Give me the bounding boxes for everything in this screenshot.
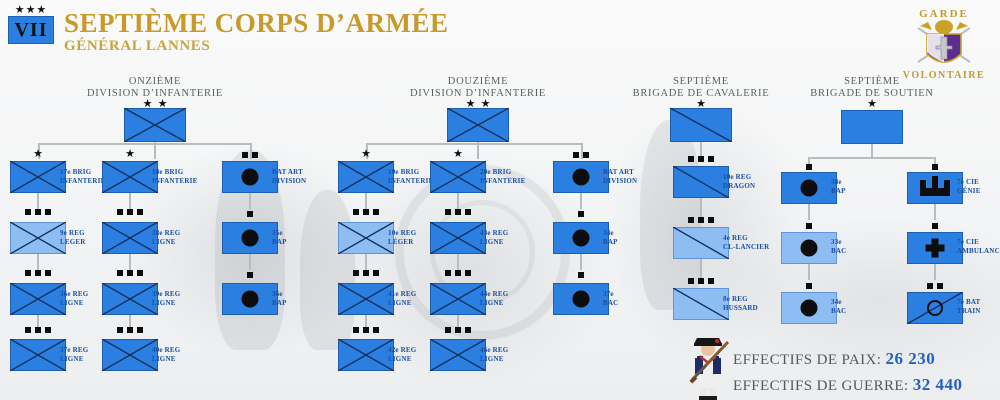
connector [249,193,251,209]
echelon-10-reg-dragon [675,155,727,163]
caption-line2: INFANTERIE [480,177,525,186]
echelon-39-reg-ligne [104,269,156,277]
echelon-7-cie-genie [909,163,961,171]
unit-div-11-hq[interactable] [124,108,186,142]
caption-line1: 20e BRIG [480,168,525,177]
connector [129,193,131,209]
caption-line1: 38e [831,178,846,187]
caption-line2: LIGNE [480,238,508,247]
caption-line2: BAC [831,247,846,256]
unit-19-brig-infanterie[interactable] [338,161,394,193]
group-title-div-12: DOUZIÈME DIVISION D’INFANTERIE [378,76,578,100]
chart-header: ★★★ VII SEPTIÈME CORPS D’ARMÉE GÉNÉRAL L… [0,0,1000,62]
unit-bat-art-division-11[interactable] [222,161,278,193]
caption-8-reg-hussard: 8e REG HUSSARD [723,295,758,313]
effectifs-guerre-label: EFFECTIFS DE GUERRE: [733,378,909,394]
caption-line2: INFANTERIE [388,177,433,186]
caption-44-reg-ligne: 44e REG LIGNE [480,290,508,308]
echelon-43-reg-ligne [432,208,484,216]
caption-line1: BAT ART [603,168,637,177]
caption-line2: LIGNE [60,355,88,364]
caption-line2: LEGER [60,238,86,247]
caption-line1: 9e REG [60,229,86,238]
caption-line2: INFANTERIE [152,177,197,186]
unit-34-bap[interactable] [553,222,609,254]
caption-line1: 42e REG [388,346,416,355]
caption-line2: LIGNE [152,355,180,364]
echelon-div-11: ★★ [125,100,185,108]
echelon-20-brig: ★ [432,150,484,158]
caption-34-bac: 34e BAC [831,298,846,316]
caption-7-cie-ambulance: 7e CIE AMBULANCE [957,238,1000,256]
caption-38-bap: 38e BAP [831,178,846,196]
unit-18-brig-infanterie[interactable] [102,161,158,193]
connector [580,254,582,270]
caption-41-reg-ligne: 41e REG LIGNE [388,290,416,308]
echelon-10-reg-leger [340,208,392,216]
caption-42-reg-ligne: 42e REG LIGNE [388,346,416,364]
caption-line2: LIGNE [152,299,180,308]
caption-bat-art-division-11: BAT ART DIVISION [272,168,306,186]
unit-37-bac[interactable] [553,283,609,315]
caption-line2: DRAGON [723,182,755,191]
echelon-38-bap [783,163,835,171]
echelon-38-reg-ligne [104,208,156,216]
group-title-line1: SEPTIÈME [782,76,962,88]
caption-10-reg-leger: 10e REG LÉGER [388,229,416,247]
unit-34-bac[interactable] [781,292,837,324]
group-title-line2: DIVISION D’INFANTERIE [378,88,578,100]
connector [808,204,810,220]
caption-line2: DIVISION [603,177,637,186]
caption-line1: 17e BRIG [60,168,105,177]
connector [38,143,252,145]
caption-line1: 44e REG [480,290,508,299]
unit-42-reg-ligne[interactable] [338,339,394,371]
caption-line2: LÉGER [388,238,416,247]
caption-line2: DIVISION [272,177,306,186]
echelon-4-reg-cl-lancier [675,216,727,224]
caption-35-bap: 35e BAP [272,229,287,247]
connector [808,157,935,159]
unit-7-cie-genie[interactable] [907,172,963,204]
effectifs-guerre: EFFECTIFS DE GUERRE: 32 440 [733,375,962,395]
caption-line1: 10e REG [723,173,755,182]
caption-line1: 43e REG [480,229,508,238]
caption-line2: GÉNIE [957,187,981,196]
unit-div-12-hq[interactable] [447,108,509,142]
caption-line1: BAT ART [272,168,306,177]
group-title-bde-soutien: SEPTIÈME BRIGADE DE SOUTIEN [782,76,962,100]
caption-line1: 38e REG [152,229,180,238]
echelon-17-brig: ★ [12,150,64,158]
caption-line2: BAC [603,299,618,308]
group-title-line1: DOUZIÈME [378,76,578,88]
connector [934,264,936,280]
caption-4-reg-cl-lancier: 4e REG CL-LANCIER [723,234,769,252]
unit-39-reg-ligne[interactable] [102,283,158,315]
echelon-36-reg-ligne [12,269,64,277]
caption-line2: AMBULANCE [957,247,1000,256]
echelon-8-reg-hussard [675,277,727,285]
caption-18-brig-infanterie: 18e BRIG INFANTERIE [152,168,197,186]
caption-line2: BAP [272,299,287,308]
unit-36-reg-ligne[interactable] [10,283,66,315]
caption-line1: 46e REG [480,346,508,355]
unit-20-brig-infanterie[interactable] [430,161,486,193]
caption-40-reg-ligne: 40e REG LIGNE [152,346,180,364]
echelon-bat-art-div-11 [224,151,276,159]
artillery-icon [573,169,590,186]
caption-line1: 7e BAT [957,298,981,307]
echelon-bde-cav: ★ [675,100,727,108]
unit-7-bat-train[interactable] [907,292,963,324]
unit-17-brig-infanterie[interactable] [10,161,66,193]
unit-38-reg-ligne[interactable] [102,222,158,254]
caption-36-reg-ligne: 36e REG LIGNE [60,290,88,308]
echelon-19-brig: ★ [340,150,392,158]
unit-bat-art-division-12[interactable] [553,161,609,193]
caption-line1: 18e BRIG [152,168,197,177]
medical-cross-icon [926,239,945,258]
artillery-icon [801,180,818,197]
artillery-icon [573,291,590,308]
connector [457,254,459,270]
connector [871,144,873,158]
connector [808,264,810,280]
caption-20-brig-infanterie: 20e BRIG INFANTERIE [480,168,525,186]
caption-line2: HUSSARD [723,304,758,313]
caption-19-brig-infanterie: 19e BRIG INFANTERIE [388,168,433,186]
echelon-42-reg-ligne [340,326,392,334]
connector [580,193,582,209]
connector [129,254,131,270]
caption-line1: 7e CIE [957,238,1000,247]
caption-line2: TRAIN [957,307,981,316]
caption-17-brig-infanterie: 17e BRIG INFANTERIE [60,168,105,186]
unit-9-reg-leger[interactable] [10,222,66,254]
connector [37,193,39,209]
echelon-35-bap [224,210,276,218]
unit-7-cie-ambulance[interactable] [907,232,963,264]
caption-10-reg-dragon: 10e REG DRAGON [723,173,755,191]
caption-line1: 34e [603,229,618,238]
group-title-line2: DIVISION D’INFANTERIE [55,88,255,100]
caption-line2: BAP [831,187,846,196]
artillery-icon [801,300,818,317]
corps-numeral-badge: VII [8,16,54,44]
echelon-34-bac [783,282,835,290]
caption-line2: LIGNE [480,299,508,308]
unit-41-reg-ligne[interactable] [338,283,394,315]
echelon-9-reg-leger [12,208,64,216]
unit-8-reg-hussard[interactable] [673,288,729,320]
echelon-7-bat-train [909,282,961,290]
unit-bde-cav-hq[interactable] [670,108,732,142]
caption-line2: LIGNE [152,238,180,247]
corps-stars: ★★★ [8,4,54,16]
artillery-icon [573,230,590,247]
caption-34-bap: 34e BAP [603,229,618,247]
echelon-18-brig: ★ [104,150,156,158]
unit-40-reg-ligne[interactable] [102,339,158,371]
caption-line2: LIGNE [480,355,508,364]
caption-line2: LIGNE [60,299,88,308]
effectifs-paix-value: 26 230 [886,349,936,368]
connector [365,254,367,270]
caption-line2: CL-LANCIER [723,243,769,252]
caption-line2: BAP [603,238,618,247]
echelon-bat-art-div-12 [555,151,607,159]
caption-line1: 41e REG [388,290,416,299]
caption-39-reg-ligne: 39e REG LIGNE [152,290,180,308]
caption-line2: LIGNE [388,299,416,308]
caption-7-bat-train: 7e BAT TRAIN [957,298,981,316]
group-title-line1: ONZIÈME [55,76,255,88]
caption-line1: 8e REG [723,295,758,304]
effectifs-paix-label: EFFECTIFS DE PAIX: [733,352,881,368]
caption-38-reg-ligne: 38e REG LIGNE [152,229,180,247]
echelon-40-reg-ligne [104,326,156,334]
echelon-36-bap [224,271,276,279]
caption-line1: 4e REG [723,234,769,243]
caption-line2: LIGNE [388,355,416,364]
engineer-castle-icon [920,180,950,196]
caption-line1: 40e REG [152,346,180,355]
caption-line1: 33e [831,238,846,247]
group-title-div-11: ONZIÈME DIVISION D’INFANTERIE [55,76,255,100]
unit-46-reg-ligne[interactable] [430,339,486,371]
artillery-icon [242,291,259,308]
caption-line1: 19e BRIG [388,168,433,177]
orbat-chart: ★★★ VII SEPTIÈME CORPS D’ARMÉE GÉNÉRAL L… [0,0,1000,400]
commander-name: GÉNÉRAL LANNES [64,38,210,55]
caption-33-bac: 33e BAC [831,238,846,256]
caption-line1: 36e [272,290,287,299]
unit-33-bac[interactable] [781,232,837,264]
napoleonic-soldier-illustration [686,334,730,400]
unit-bde-soutien-hq[interactable] [841,110,903,144]
caption-line1: 7e CIE [957,178,981,187]
echelon-44-reg-ligne [432,269,484,277]
caption-37-reg-ligne: 37e REG LIGNE [60,346,88,364]
echelon-37-reg-ligne [12,326,64,334]
echelon-div-12: ★★ [448,100,508,108]
caption-line1: 35e [272,229,287,238]
caption-line1: 37e [603,290,618,299]
artillery-icon [801,240,818,257]
group-title-bde-cav: SEPTIÈME BRIGADE DE CAVALERIE [611,76,791,100]
effectifs-guerre-value: 32 440 [913,375,963,394]
unit-10-reg-dragon[interactable] [673,166,729,198]
caption-line1: 10e REG [388,229,416,238]
caption-9-reg-leger: 9e REG LEGER [60,229,86,247]
connector [700,259,702,278]
caption-43-reg-ligne: 43e REG LIGNE [480,229,508,247]
caption-37-bac: 37e BAC [603,290,618,308]
connector [700,198,702,217]
artillery-icon [242,230,259,247]
echelon-7-cie-ambulance [909,222,961,230]
caption-46-reg-ligne: 46e REG LIGNE [480,346,508,364]
echelon-34-bap [555,210,607,218]
caption-bat-art-division-12: BAT ART DIVISION [603,168,637,186]
caption-line1: 36e REG [60,290,88,299]
connector [249,254,251,270]
caption-line1: 39e REG [152,290,180,299]
caption-7-cie-genie: 7e CIE GÉNIE [957,178,981,196]
garde-volontaire-emblem: GARDE VOLONTAIRE [896,4,992,86]
echelon-33-bac [783,222,835,230]
echelon-41-reg-ligne [340,269,392,277]
group-title-line1: SEPTIÈME [611,76,791,88]
unit-10-reg-leger[interactable] [338,222,394,254]
connector [457,193,459,209]
train-ring-icon [927,300,943,316]
echelon-37-bac [555,271,607,279]
unit-37-reg-ligne[interactable] [10,339,66,371]
unit-4-reg-cl-lancier[interactable] [673,227,729,259]
effectifs-paix: EFFECTIFS DE PAIX: 26 230 [733,349,935,369]
unit-43-reg-ligne[interactable] [430,222,486,254]
page-title: SEPTIÈME CORPS D’ARMÉE [64,8,449,39]
connector [934,204,936,220]
unit-35-bap[interactable] [222,222,278,254]
unit-38-bap[interactable] [781,172,837,204]
caption-36-bap: 36e BAP [272,290,287,308]
connector [366,143,583,145]
caption-line2: BAC [831,307,846,316]
echelon-bde-soutien: ★ [846,100,898,108]
unit-36-bap[interactable] [222,283,278,315]
connector [365,193,367,209]
connector [37,254,39,270]
artillery-icon [242,169,259,186]
caption-line2: BAP [272,238,287,247]
caption-line1: 34e [831,298,846,307]
unit-44-reg-ligne[interactable] [430,283,486,315]
echelon-46-reg-ligne [432,326,484,334]
caption-line2: INFANTERIE [60,177,105,186]
caption-line1: 37e REG [60,346,88,355]
